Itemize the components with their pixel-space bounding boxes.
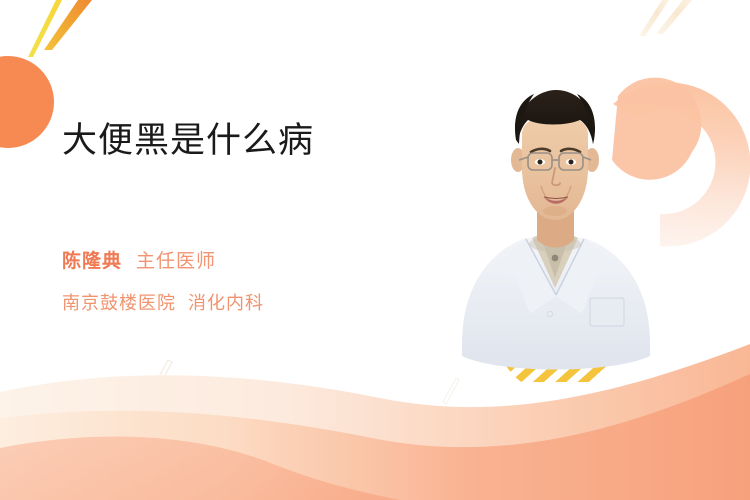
doctor-portrait <box>440 82 670 382</box>
orange-circle <box>0 56 54 148</box>
top-left-stripes <box>28 0 92 57</box>
doctor-credentials: 陈隆典主任医师 <box>62 249 216 276</box>
wave-blob <box>0 436 400 500</box>
department-name: 消化内科 <box>188 293 264 313</box>
page-title: 大便黑是什么病 <box>62 119 314 163</box>
doctor-name: 陈隆典 <box>62 251 122 272</box>
top-right-stripes <box>639 0 692 36</box>
head <box>511 90 599 220</box>
hospital-name: 南京鼓楼医院 <box>62 293 176 313</box>
lab-coat <box>462 234 650 370</box>
faint-outline-stripe <box>151 360 172 394</box>
doctor-affiliation: 南京鼓楼医院消化内科 <box>62 290 264 318</box>
doctor-rank: 主任医师 <box>136 251 216 272</box>
doctor-video-card: 大便黑是什么病 陈隆典主任医师 南京鼓楼医院消化内科 <box>0 0 750 500</box>
wave-front <box>0 374 750 500</box>
